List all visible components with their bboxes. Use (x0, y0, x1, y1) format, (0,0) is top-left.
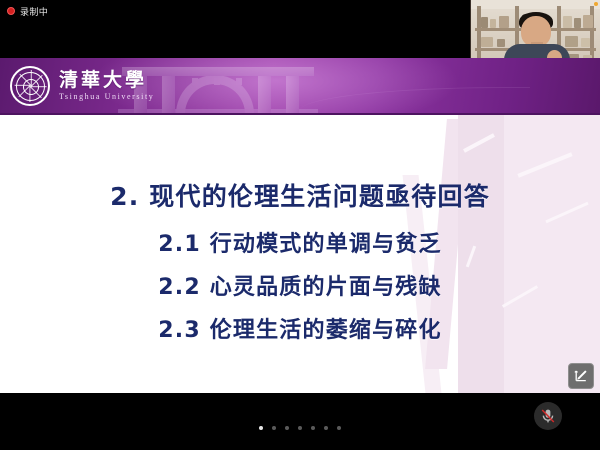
shelf-object (490, 19, 496, 28)
shelf-object (574, 18, 581, 28)
presentation-slide[interactable]: 清華大學 Tsinghua University 2. 现代的伦理生活问题亟待回… (0, 58, 600, 393)
shelf-object (481, 37, 493, 47)
shelf-object (583, 15, 593, 28)
pen-annotate-icon[interactable] (568, 363, 594, 389)
bottom-toolbar (0, 393, 600, 450)
tsinghua-seal-icon (10, 66, 50, 106)
page-dot[interactable] (285, 426, 289, 430)
bullet-text-2: 心灵品质的片面与残缺 (210, 275, 442, 300)
slide-bullet-1: 2.1 行动模式的单调与贫乏 (0, 226, 600, 258)
slide-content: 2. 现代的伦理生活问题亟待回答 2.1 行动模式的单调与贫乏 2.2 心灵品质… (0, 115, 600, 393)
page-dot[interactable] (298, 426, 302, 430)
bullet-text-1: 行动模式的单调与贫乏 (210, 232, 442, 257)
recording-dot-icon (7, 7, 15, 15)
bullet-number-2: 2.2 (158, 275, 201, 300)
slide-bullet-2: 2.2 心灵品质的片面与残缺 (0, 269, 600, 301)
bullet-number-1: 2.1 (158, 232, 201, 257)
page-dot[interactable] (259, 426, 263, 430)
slide-bullet-3: 2.3 伦理生活的萎缩与碎化 (0, 312, 600, 344)
page-dot[interactable] (324, 426, 328, 430)
shelf-object (499, 16, 509, 28)
shelf-object (563, 16, 572, 28)
shelf-object (497, 39, 505, 47)
shelf-object (581, 38, 590, 47)
slide-header-banner: 清華大學 Tsinghua University (0, 58, 600, 115)
recording-label: 录制中 (20, 5, 48, 18)
shelf-object (565, 36, 578, 47)
bullet-number-3: 2.3 (158, 318, 201, 343)
video-status-dot-icon (594, 2, 598, 6)
university-logo: 清華大學 Tsinghua University (10, 66, 154, 106)
bullet-text-3: 伦理生活的萎缩与碎化 (210, 318, 442, 343)
slide-page-dots[interactable] (0, 426, 600, 430)
shelf-object (481, 17, 488, 28)
page-dot[interactable] (337, 426, 341, 430)
page-dot[interactable] (311, 426, 315, 430)
page-dot[interactable] (272, 426, 276, 430)
banner-glow (300, 87, 530, 113)
university-name-en: Tsinghua University (59, 92, 154, 101)
university-name-cn: 清華大學 (59, 71, 154, 91)
slide-title: 2. 现代的伦理生活问题亟待回答 (0, 177, 600, 213)
